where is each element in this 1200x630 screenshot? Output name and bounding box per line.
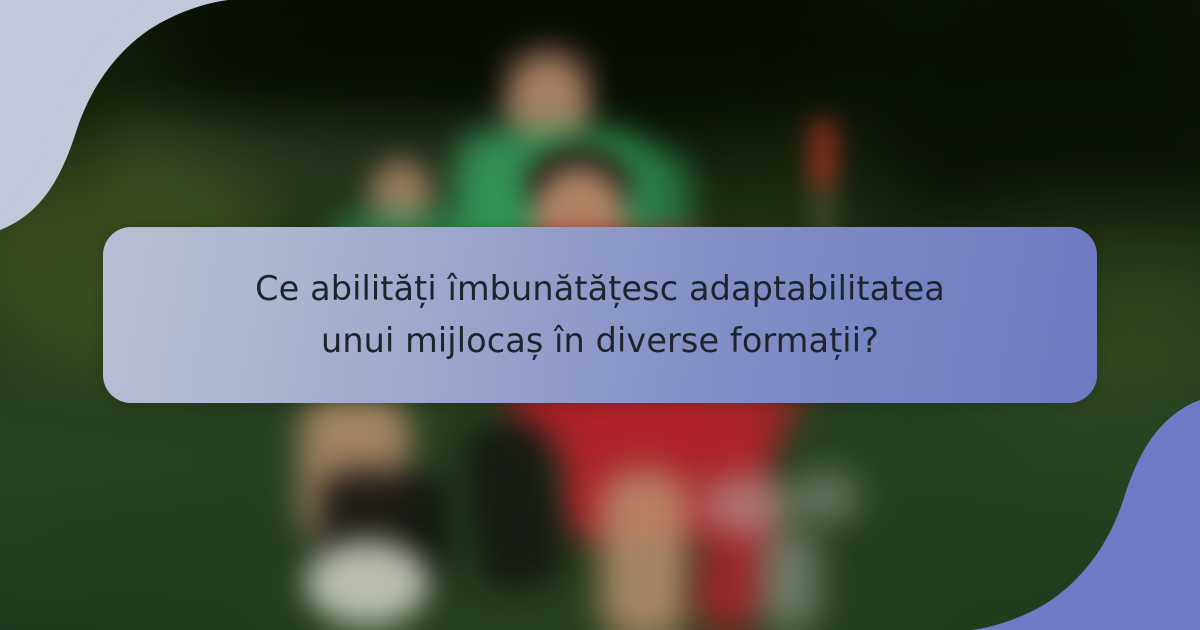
question-text: Ce abilități îmbunătățesc adaptabilitate… — [103, 263, 1097, 367]
question-line-1: Ce abilități îmbunătățesc adaptabilitate… — [137, 263, 1063, 315]
question-card: Ce abilități îmbunătățesc adaptabilitate… — [103, 227, 1097, 403]
question-line-2: unui mijlocaș în diverse formații? — [137, 315, 1063, 367]
social-card-canvas: Ce abilități îmbunătățesc adaptabilitate… — [0, 0, 1200, 630]
